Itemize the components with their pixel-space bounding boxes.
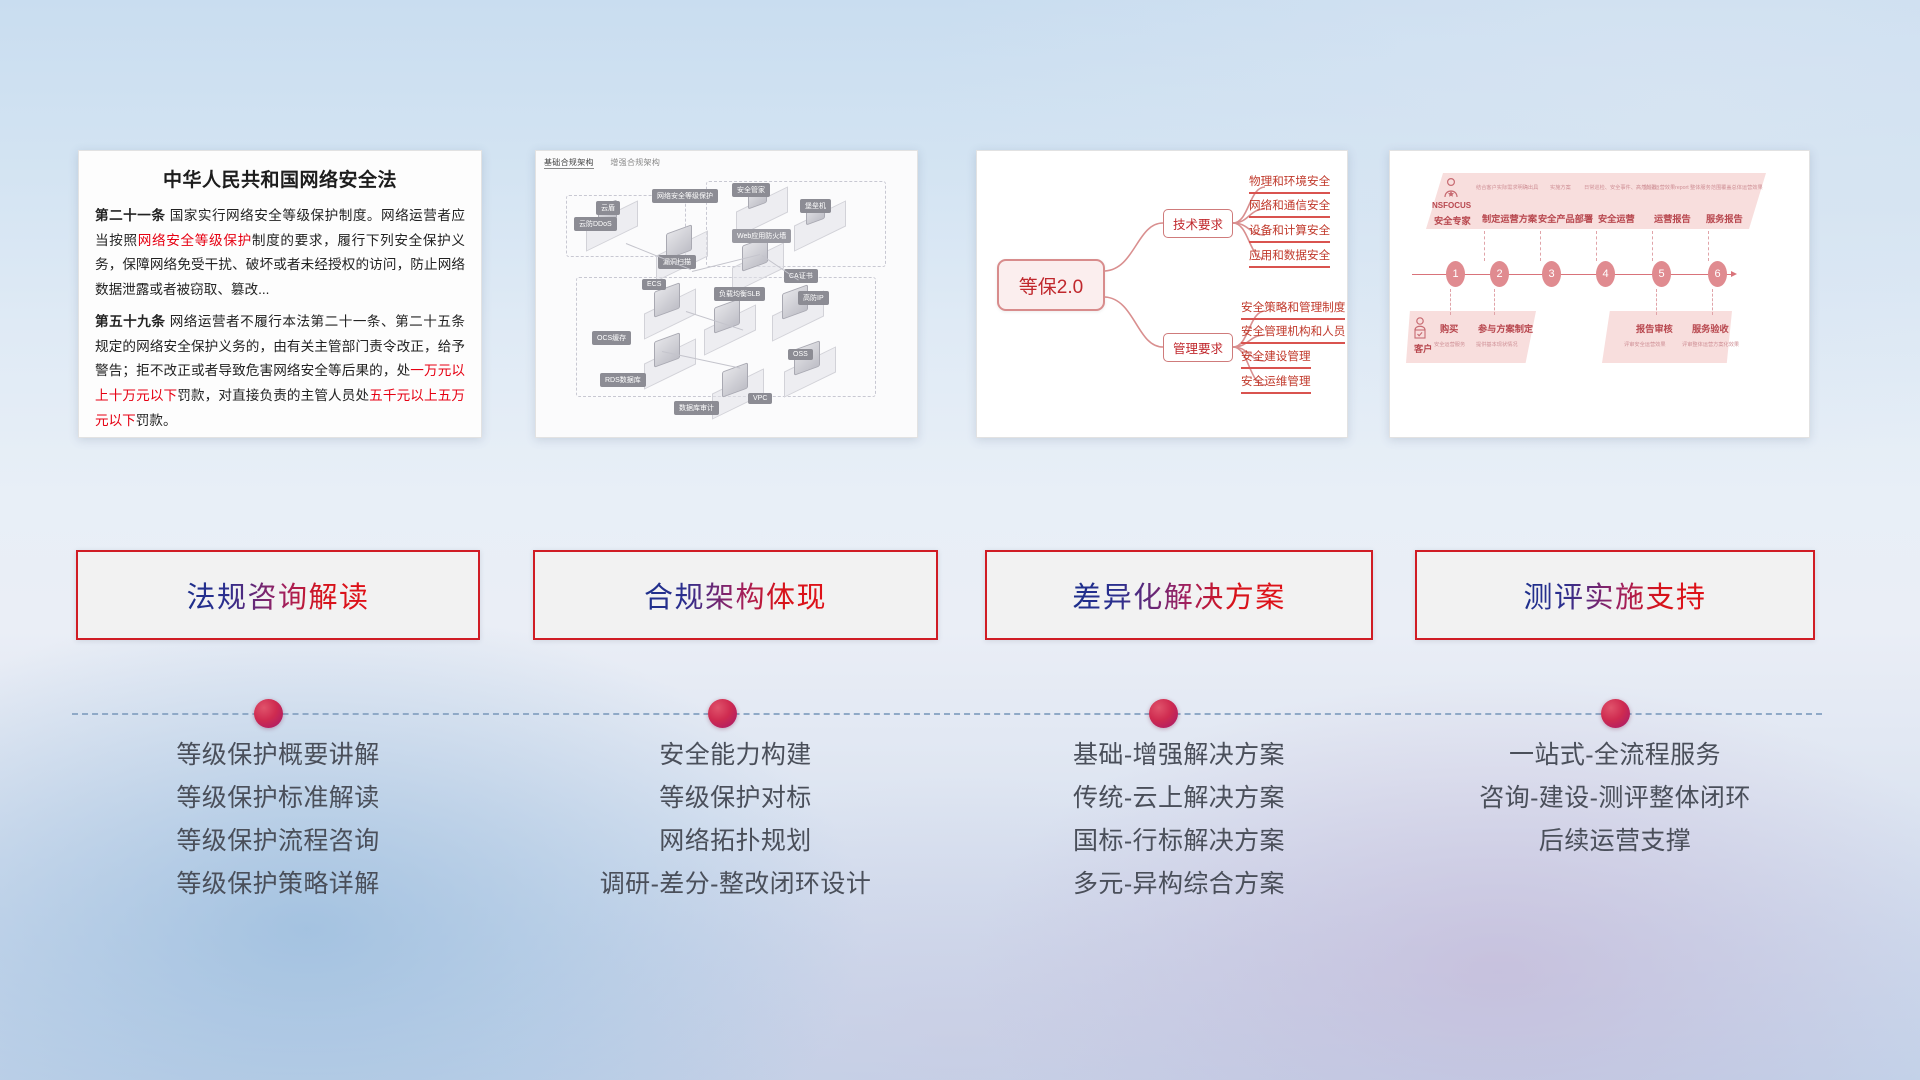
mindmap-leaf-app-data: 应用和数据安全 bbox=[1249, 247, 1330, 268]
mindmap-root-node: 等保2.0 bbox=[997, 259, 1105, 311]
mindmap-branch-technical: 技术要求 bbox=[1163, 209, 1233, 238]
top-main-1: 制定运营方案 bbox=[1482, 211, 1537, 225]
list-item: 国标-行标解决方案 bbox=[985, 820, 1373, 863]
bottom-sub-1: 安全运营服务 bbox=[1434, 341, 1465, 348]
mindmap-leaf-network-comm: 网络和通信安全 bbox=[1249, 197, 1330, 218]
expert-person-icon bbox=[1442, 177, 1460, 199]
dotline-3 bbox=[1540, 231, 1541, 261]
rail-dot-1[interactable] bbox=[254, 699, 283, 728]
law-title: 中华人民共和国网络安全法 bbox=[95, 165, 465, 192]
timeline-rail bbox=[0, 694, 1920, 734]
node-ecs: ECS bbox=[642, 279, 666, 290]
header-label-3: 差异化解决方案 bbox=[1072, 574, 1286, 616]
list-item: 安全能力构建 bbox=[533, 734, 938, 777]
node-vpc: VPC bbox=[748, 393, 772, 404]
node-waf: Web应用防火墙 bbox=[732, 229, 791, 243]
rail-dot-4[interactable] bbox=[1601, 699, 1630, 728]
header-label-2: 合规架构体现 bbox=[644, 574, 827, 616]
card-mindmap[interactable]: 等保2.0 技术要求 管理要求 物理和环境安全 网络和通信安全 设备和计算安全 … bbox=[976, 150, 1348, 438]
node-security-butler: 安全管家 bbox=[732, 183, 770, 197]
card-service-timeline[interactable]: NSFOCUS 安全专家 结合客户实际需求明确出具 制定运营方案 实施方案 安全… bbox=[1389, 150, 1810, 438]
node-oss: OSS bbox=[788, 349, 813, 360]
customer-person-icon bbox=[1412, 317, 1428, 339]
list-item: 等级保护对标 bbox=[533, 777, 938, 820]
dotline-b4 bbox=[1712, 289, 1713, 315]
list-item: 网络拓扑规划 bbox=[533, 820, 938, 863]
law-article-21: 第二十一条 国家实行网络安全等级保护制度。网络运营者应当按照网络安全等级保护制度… bbox=[95, 204, 465, 303]
card-cybersecurity-law[interactable]: 中华人民共和国网络安全法 第二十一条 国家实行网络安全等级保护制度。网络运营者应… bbox=[78, 150, 482, 438]
dotline-4 bbox=[1596, 231, 1597, 261]
law-article-59: 第五十九条 网络运营者不履行本法第二十一条、第二十五条规定的网络安全保护义务的，… bbox=[95, 310, 465, 434]
bottom-sub-2: 提供基本现状情况 bbox=[1476, 341, 1518, 348]
timeline-infographic: NSFOCUS 安全专家 结合客户实际需求明确出具 制定运营方案 实施方案 安全… bbox=[1390, 151, 1809, 437]
tab-enhanced-architecture[interactable]: 增强合规架构 bbox=[610, 158, 660, 167]
article-59-text-b: 罚款，对直接负责的主管人员处 bbox=[177, 388, 369, 403]
step-marker-5[interactable]: 5 bbox=[1652, 261, 1671, 287]
node-slb: 负载均衡SLB bbox=[714, 287, 765, 301]
step-marker-6[interactable]: 6 bbox=[1708, 261, 1727, 287]
list-item: 等级保护标准解读 bbox=[76, 777, 480, 820]
list-item: 等级保护流程咨询 bbox=[76, 820, 480, 863]
step-marker-1[interactable]: 1 bbox=[1446, 261, 1465, 287]
rail-dot-3[interactable] bbox=[1149, 699, 1178, 728]
dotline-2 bbox=[1484, 231, 1485, 261]
step-marker-3[interactable]: 3 bbox=[1542, 261, 1561, 287]
top-main-4: 运营报告 bbox=[1654, 211, 1691, 225]
mindmap-leaf-ops-mgmt: 安全运维管理 bbox=[1241, 373, 1311, 394]
top-sub-1: 结合客户实际需求明确出具 bbox=[1476, 184, 1538, 191]
node-db-audit: 数据库审计 bbox=[674, 401, 719, 415]
mindmap-diagram: 等保2.0 技术要求 管理要求 物理和环境安全 网络和通信安全 设备和计算安全 … bbox=[977, 151, 1347, 437]
step-marker-4[interactable]: 4 bbox=[1596, 261, 1615, 287]
header-box-regulation-consulting[interactable]: 法规咨询解读 bbox=[76, 550, 480, 640]
top-sub-5: 整体服务范围覆盖总体运营效果 bbox=[1690, 184, 1763, 191]
node-situational-awareness: 网络安全等级保护 bbox=[652, 189, 718, 203]
law-document: 中华人民共和国网络安全法 第二十一条 国家实行网络安全等级保护制度。网络运营者应… bbox=[79, 151, 481, 434]
list-item: 等级保护策略详解 bbox=[76, 863, 480, 906]
architecture-tabs: 基础合规架构 增强合规架构 bbox=[544, 157, 674, 168]
mindmap-leaf-org-personnel: 安全管理机构和人员 bbox=[1241, 323, 1345, 344]
column-assessment-support: 一站式-全流程服务 咨询-建设-测评整体闭环 后续运营支撑 bbox=[1415, 734, 1815, 863]
top-sub-4: 阶段运营效果report bbox=[1644, 184, 1689, 191]
dotline-b1 bbox=[1450, 289, 1451, 315]
dotline-6 bbox=[1708, 231, 1709, 261]
article-59-label: 第五十九条 bbox=[95, 314, 165, 329]
node-anti-ddos-ip: 高防IP bbox=[798, 291, 829, 305]
bottom-main-1: 购买 bbox=[1440, 321, 1458, 335]
article-21-highlight: 网络安全等级保护 bbox=[138, 233, 252, 248]
detail-column-row: 等级保护概要讲解 等级保护标准解读 等级保护流程咨询 等级保护策略详解 安全能力… bbox=[0, 734, 1920, 984]
customer-label: 客户 bbox=[1414, 341, 1432, 355]
header-box-differentiated-solution[interactable]: 差异化解决方案 bbox=[985, 550, 1373, 640]
bottom-sub-4: 评审整体运营方案化效果 bbox=[1682, 341, 1739, 348]
mindmap-branch-management: 管理要求 bbox=[1163, 333, 1233, 362]
list-item: 基础-增强解决方案 bbox=[985, 734, 1373, 777]
expert-label-line1: NSFOCUS bbox=[1432, 201, 1471, 210]
architecture-diagram: 基础合规架构 增强合规架构 网络安全等级保护 bbox=[536, 151, 917, 437]
list-item: 一站式-全流程服务 bbox=[1415, 734, 1815, 777]
mindmap-leaf-physical-env: 物理和环境安全 bbox=[1249, 173, 1330, 194]
bottom-main-3: 报告审核 bbox=[1636, 321, 1673, 335]
node-vuln-scan: 漏洞扫描 bbox=[658, 255, 696, 269]
top-main-2: 安全产品部署 bbox=[1538, 211, 1593, 225]
expert-label-line2: 安全专家 bbox=[1434, 213, 1471, 227]
list-item: 多元-异构综合方案 bbox=[985, 863, 1373, 906]
list-item: 咨询-建设-测评整体闭环 bbox=[1415, 777, 1815, 820]
list-item: 调研-差分-整改闭环设计 bbox=[533, 863, 938, 906]
top-main-3: 安全运营 bbox=[1598, 211, 1635, 225]
article-21-label: 第二十一条 bbox=[95, 208, 165, 223]
image-card-row: 中华人民共和国网络安全法 第二十一条 国家实行网络安全等级保护制度。网络运营者应… bbox=[0, 150, 1920, 440]
list-item: 后续运营支撑 bbox=[1415, 820, 1815, 863]
node-cloud-ddos: 云防DDoS bbox=[574, 217, 617, 231]
bottom-main-4: 服务验收 bbox=[1692, 321, 1729, 335]
list-item: 等级保护概要讲解 bbox=[76, 734, 480, 777]
node-ca-cert: CA证书 bbox=[784, 269, 818, 283]
rail-dashed-line bbox=[72, 713, 1822, 715]
header-label-1: 法规咨询解读 bbox=[186, 574, 369, 616]
node-bastion-host: 堡垒机 bbox=[800, 199, 831, 213]
node-ocs-cache: OCS缓存 bbox=[592, 331, 631, 345]
column-differentiated-solution: 基础-增强解决方案 传统-云上解决方案 国标-行标解决方案 多元-异构综合方案 bbox=[985, 734, 1373, 906]
band-customer-right bbox=[1602, 311, 1732, 363]
mindmap-leaf-device-compute: 设备和计算安全 bbox=[1249, 222, 1330, 243]
column-regulation-consulting: 等级保护概要讲解 等级保护标准解读 等级保护流程咨询 等级保护策略详解 bbox=[76, 734, 480, 906]
top-sub-2: 实施方案 bbox=[1550, 184, 1571, 191]
header-box-compliance-architecture[interactable]: 合规架构体现 bbox=[533, 550, 938, 640]
bottom-main-2: 参与方案制定 bbox=[1478, 321, 1533, 335]
node-rds-db: RDS数据库 bbox=[600, 373, 646, 387]
bottom-sub-3: 评审安全运营效果 bbox=[1624, 341, 1666, 348]
header-box-assessment-support[interactable]: 测评实施支持 bbox=[1415, 550, 1815, 640]
step-marker-2[interactable]: 2 bbox=[1490, 261, 1509, 287]
mindmap-leaf-policy-system: 安全策略和管理制度 bbox=[1241, 299, 1345, 320]
node-cloud-shield: 云盾 bbox=[596, 201, 620, 215]
header-label-4: 测评实施支持 bbox=[1523, 574, 1706, 616]
mindmap-leaf-construction-mgmt: 安全建设管理 bbox=[1241, 348, 1311, 369]
list-item: 传统-云上解决方案 bbox=[985, 777, 1373, 820]
card-cloud-architecture[interactable]: 基础合规架构 增强合规架构 网络安全等级保护 bbox=[535, 150, 918, 438]
dotline-b2 bbox=[1494, 289, 1495, 315]
dotline-5 bbox=[1652, 231, 1653, 261]
header-box-row: 法规咨询解读 合规架构体现 差异化解决方案 测评实施支持 bbox=[0, 550, 1920, 646]
article-59-text-c: 罚款。 bbox=[136, 413, 177, 428]
column-compliance-architecture: 安全能力构建 等级保护对标 网络拓扑规划 调研-差分-整改闭环设计 bbox=[533, 734, 938, 906]
dotline-b3 bbox=[1656, 289, 1657, 315]
rail-dot-2[interactable] bbox=[708, 699, 737, 728]
tab-basic-architecture[interactable]: 基础合规架构 bbox=[544, 158, 594, 169]
top-main-5: 服务报告 bbox=[1706, 211, 1743, 225]
